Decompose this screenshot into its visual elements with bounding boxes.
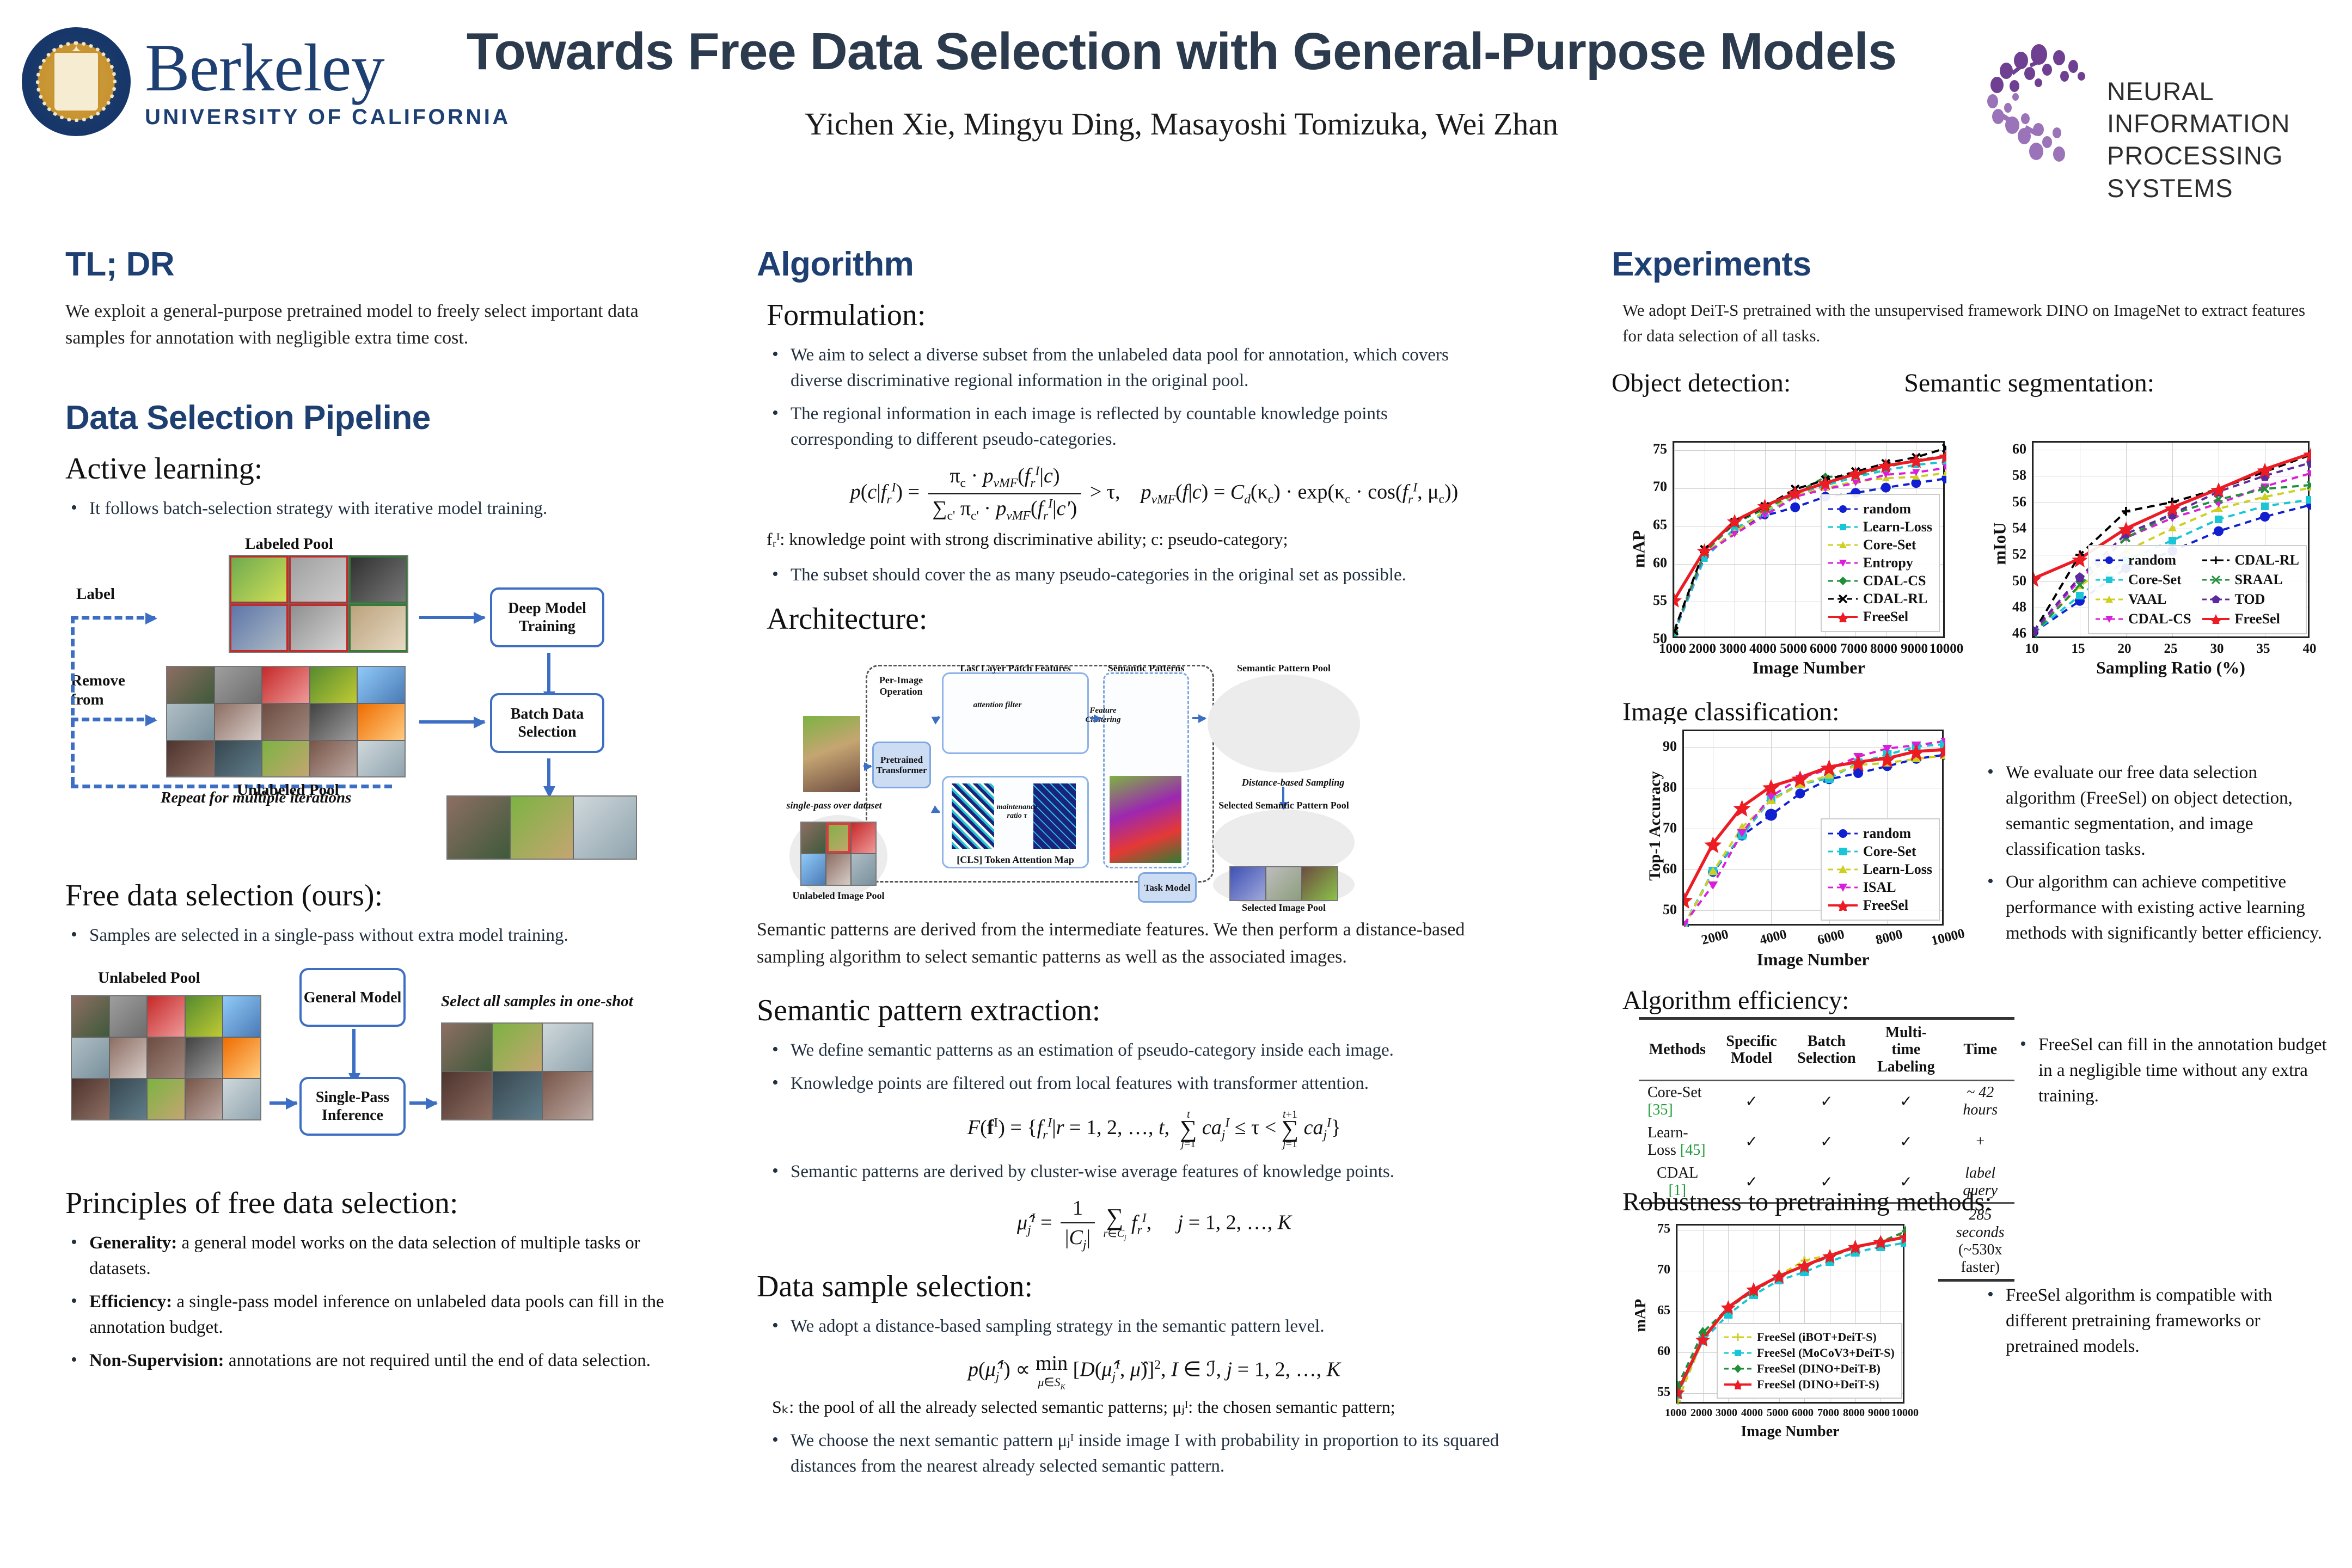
image-classification-heading: Image classification: — [1622, 697, 1840, 727]
legend-item: random — [1828, 825, 1932, 842]
principle-term: Efficiency: — [89, 1292, 172, 1312]
title-block: Towards Free Data Selection with General… — [446, 24, 1916, 142]
table-row: Core-Set [35] ✓ ✓ ✓ ~ 42 hours — [1639, 1081, 2014, 1122]
distance-based-sampling-label: Distance-based Sampling — [1225, 777, 1361, 788]
free-unlabeled-pool-images — [71, 995, 261, 1120]
cell-time: + — [1946, 1122, 2014, 1162]
legend-item: FreeSel (MoCoV3+DeiT-S) — [1724, 1346, 1895, 1360]
unlabeled-pool-images — [166, 666, 406, 777]
th-methods: Methods — [1639, 1019, 1716, 1081]
cell-method: Core-Set [35] — [1639, 1081, 1716, 1122]
th-batch-selection: Batch Selection — [1787, 1019, 1866, 1081]
select-all-label: Select all samples in one-shot — [441, 993, 633, 1010]
list-item: Our algorithm can achieve competitive pe… — [1982, 869, 2330, 946]
object-detection-heading: Object detection: — [1612, 368, 1791, 398]
training-to-selection-arrow — [547, 653, 550, 694]
experiments-heading: Experiments — [1612, 245, 2330, 284]
legend-item: FreeSel (DINO+DeiT-B) — [1724, 1362, 1895, 1376]
legend-item: FreeSel (iBOT+DeiT-S) — [1724, 1330, 1895, 1344]
formulation-last-bullet: The subset should cover the as many pseu… — [767, 562, 1491, 588]
formula-sampling-probability: p(μ̂jI) ∝ min μ̂∈SK [D(μ̂jI, μ̂)]2, I ∈ … — [757, 1351, 1552, 1391]
pipeline-heading: Data Selection Pipeline — [65, 399, 708, 437]
spe-heading: Semantic pattern extraction: — [757, 993, 1552, 1028]
neurips-line2: PROCESSING SYSTEMS — [2107, 139, 2330, 204]
list-item: Generality: a general model works on the… — [65, 1230, 670, 1282]
right-column: Experiments We adopt DeiT-S pretrained w… — [1612, 245, 2330, 398]
cell-multi: ✓ — [1866, 1122, 1946, 1162]
berkeley-logo: ✦ Berkeley UNIVERSITY OF CALIFORNIA — [22, 27, 511, 136]
neurips-wordmark: NEURAL INFORMATION PROCESSING SYSTEMS — [2107, 75, 2330, 204]
formulation-note: fᵣᴵ: knowledge point with strong discrim… — [767, 529, 1552, 549]
legend-item: Core-Set — [1828, 537, 1932, 553]
cls-token-attention-map-label: [CLS] Token Attention Map — [942, 854, 1089, 866]
legend-item: CDAL-CS — [2096, 611, 2191, 627]
legend-item: random — [2096, 552, 2191, 568]
list-item: Non-Supervision: annotations are not req… — [65, 1348, 670, 1374]
poster-title: Towards Free Data Selection with General… — [446, 24, 1916, 79]
list-item: We define semantic patterns as an estima… — [767, 1038, 1491, 1063]
legend-item: Core-Set — [1828, 843, 1932, 860]
per-image-operation-label: Per-Image Operation — [871, 675, 931, 697]
poster-authors: Yichen Xie, Mingyu Ding, Masayoshi Tomiz… — [446, 106, 1916, 142]
cell-specific: ✓ — [1716, 1122, 1787, 1162]
selected-images — [446, 795, 637, 860]
single-pass-inference-box: Single-Pass Inference — [299, 1077, 406, 1136]
list-item: Efficiency: a single-pass model inferenc… — [65, 1289, 670, 1340]
neurips-line1: NEURAL INFORMATION — [2107, 75, 2330, 139]
legend-item: CDAL-RL — [1828, 591, 1932, 607]
cell-batch: ✓ — [1787, 1081, 1866, 1122]
principles-heading: Principles of free data selection: — [65, 1186, 708, 1221]
rb-xlabel: Image Number — [1676, 1423, 1904, 1441]
pretrained-transformer-box: Pretrained Transformer — [872, 742, 931, 788]
list-item: We adopt a distance-based sampling strat… — [767, 1314, 1491, 1339]
cell-multi: ✓ — [1866, 1081, 1946, 1122]
active-learning-bullets: It follows batch-selection strategy with… — [65, 496, 708, 522]
free-selection-heading: Free data selection (ours): — [65, 878, 708, 913]
active-learning-heading: Active learning: — [65, 451, 708, 486]
labeled-pool-label: Labeled Pool — [245, 535, 333, 553]
ss-legend: random CDAL-RL Core-Set SRAAL VAAL TOD C… — [2088, 545, 2307, 634]
unlabeled-pool-label: Unlabeled Pool — [237, 781, 339, 799]
efficiency-bullet-wrap: FreeSel can fill in the annotation budge… — [2014, 1029, 2330, 1117]
semantic-pattern-pool-label: Semantic Pattern Pool — [1208, 663, 1360, 674]
table-row: Learn-Loss [45] ✓ ✓ ✓ + — [1639, 1122, 2014, 1162]
architecture-caption: Semantic patterns are derived from the i… — [757, 916, 1519, 970]
last-layer-patch-features-label: Last Layer Patch Features — [942, 663, 1089, 674]
dss-heading: Data sample selection: — [757, 1269, 1552, 1304]
maintenance-ratio-label: maintenance ratio τ — [995, 803, 1039, 820]
ss-plot-area: random CDAL-RL Core-Set SRAAL VAAL TOD C… — [2032, 441, 2310, 638]
efficiency-heading: Algorithm efficiency: — [1622, 985, 1849, 1015]
task-model-box: Task Model — [1138, 872, 1197, 903]
label-arrow — [71, 616, 155, 620]
chart-object-detection: mAP — [1628, 436, 1955, 681]
rb-plot-area: FreeSel (iBOT+DeiT-S) FreeSel (MoCoV3+De… — [1676, 1224, 1904, 1404]
berkeley-seal-icon: ✦ — [22, 27, 131, 136]
list-item: We aim to select a diverse subset from t… — [767, 342, 1491, 394]
free-selection-bullets: Samples are selected in a single-pass wi… — [65, 923, 708, 948]
poster-header: ✦ Berkeley UNIVERSITY OF CALIFORNIA Towa… — [0, 0, 2352, 207]
principle-term: Generality: — [89, 1233, 177, 1253]
attention-heatmap-b — [1033, 783, 1076, 849]
chart-image-classification: Top-1 Accuracy — [1628, 724, 1976, 975]
classification-bullets: We evaluate our free data selection algo… — [1982, 757, 2330, 954]
selected-image-thumbs — [1229, 866, 1338, 901]
formula-knowledge-points: F(fI) = {frI|r = 1, 2, …, t, t ∑ j=1 caj… — [757, 1108, 1552, 1150]
tldr-text: We exploit a general-purpose pretrained … — [65, 298, 653, 352]
tldr-heading: TL; DR — [65, 245, 708, 284]
selected-image-pool-label: Selected Image Pool — [1213, 902, 1355, 914]
general-to-inference-arrow — [352, 1029, 356, 1075]
legend-item: TOD — [2202, 591, 2299, 608]
list-item: Semantic patterns are derived by cluster… — [767, 1159, 1491, 1185]
list-item: Samples are selected in a single-pass wi… — [65, 923, 708, 948]
principle-text: a single-pass model inference on unlabel… — [89, 1292, 664, 1337]
to-selection-arrow — [419, 720, 485, 724]
algorithm-heading: Algorithm — [757, 245, 1552, 284]
robustness-bullet-wrap: FreeSel algorithm is compatible with dif… — [1982, 1279, 2330, 1367]
feedback-loop-vertical — [71, 616, 75, 785]
patterns-to-pool-arrow — [1192, 717, 1205, 719]
legend-item: Core-Set — [2096, 572, 2191, 588]
list-item: We choose the next semantic pattern μⱼᴵ … — [767, 1428, 1502, 1479]
list-item: It follows batch-selection strategy with… — [65, 496, 708, 522]
th-specific-model: Specific Model — [1716, 1019, 1787, 1081]
feedback-loop-horizontal — [71, 785, 392, 788]
dss-note: Sₖ: the pool of all the already selected… — [772, 1396, 1552, 1417]
attention-filter-label: attention filter — [965, 701, 1030, 710]
architecture-heading: Architecture: — [767, 602, 1552, 636]
single-pass-over-dataset-label: single-pass over dataset — [785, 800, 883, 811]
dss-last-bullet: We choose the next semantic pattern μⱼᴵ … — [767, 1428, 1502, 1479]
ss-xlabel: Sampling Ratio (%) — [2032, 658, 2310, 678]
chart-semantic-segmentation: mIoU — [1987, 436, 2325, 681]
list-item: FreeSel algorithm is compatible with dif… — [1982, 1283, 2330, 1359]
inference-to-output-arrow — [409, 1101, 437, 1105]
list-item: The regional information in each image i… — [767, 401, 1491, 452]
transformer-to-features-arrow — [934, 716, 940, 720]
patch-features-panel — [942, 672, 1089, 754]
th-multi-time-labeling: Multi-time Labeling — [1866, 1019, 1946, 1081]
od-plot-area: random Learn-Loss Core-Set Entropy CDAL-… — [1673, 441, 1945, 638]
cell-time: ~ 42 hours — [1946, 1081, 2014, 1122]
legend-item: ISAL — [1828, 879, 1932, 896]
ours-time-line2: (~530x faster) — [1955, 1241, 2006, 1276]
cell-specific: ✓ — [1716, 1081, 1787, 1122]
ic-plot-area: random Core-Set Learn-Loss ISAL FreeSel — [1682, 730, 1944, 926]
cell-batch: ✓ — [1787, 1122, 1866, 1162]
remove-arrow — [71, 718, 155, 721]
pool-to-inference-arrow — [269, 1101, 297, 1105]
general-model-box: General Model — [299, 968, 406, 1027]
ic-legend: random Core-Set Learn-Loss ISAL FreeSel — [1821, 818, 1940, 921]
seal-star-icon: ✦ — [69, 44, 84, 62]
formula-cluster-mean: μ̂jI = 1|Cj| ∑ r∈Cj frI, j = 1, 2, …, K — [757, 1196, 1552, 1253]
remove-from-label: Remove from — [71, 671, 152, 709]
left-column: TL; DR We exploit a general-purpose pret… — [65, 245, 708, 1381]
architecture-figure: Per-Image Operation Pretrained Transform… — [757, 646, 1530, 908]
segmented-image — [1110, 776, 1181, 863]
neurips-swirl-icon — [1982, 42, 2107, 168]
unlabeled-image-pool-label: Unlabeled Image Pool — [787, 890, 890, 902]
to-training-arrow — [419, 616, 485, 619]
spe-last-bullet: Semantic patterns are derived by cluster… — [767, 1159, 1491, 1185]
features-to-patterns-arrow — [1090, 717, 1101, 719]
legend-item: random — [1828, 501, 1932, 517]
formulation-bullets: We aim to select a diverse subset from t… — [767, 342, 1491, 452]
od-xlabel: Image Number — [1673, 658, 1945, 678]
legend-item: Learn-Loss — [1828, 861, 1932, 878]
transformer-to-attention-arrow — [934, 808, 940, 813]
semantic-pattern-pool-ellipse — [1208, 675, 1360, 773]
unlabeled-pool-thumbs — [800, 822, 877, 886]
formulation-heading: Formulation: — [767, 298, 1552, 333]
selected-semantic-pattern-pool-label: Selected Semantic Pattern Pool — [1208, 800, 1360, 811]
ic-xlabel: Image Number — [1682, 950, 1944, 970]
robustness-heading: Robustness to pretraining methods: — [1622, 1187, 1992, 1217]
legend-item: CDAL-CS — [1828, 573, 1932, 589]
legend-item: SRAAL — [2202, 572, 2299, 588]
list-item: The subset should cover the as many pseu… — [767, 562, 1491, 588]
neurips-logo: NEURAL INFORMATION PROCESSING SYSTEMS — [1982, 42, 2330, 168]
dss-first-bullet: We adopt a distance-based sampling strat… — [767, 1314, 1491, 1339]
semantic-patterns-label: Semantic Patterns — [1100, 663, 1192, 674]
principles-list: Generality: a general model works on the… — [65, 1230, 670, 1373]
free-selection-diagram: Unlabeled Pool General Model Single-Pass… — [65, 963, 664, 1153]
legend-item: FreeSel (DINO+DeiT-S) — [1724, 1377, 1895, 1392]
semantic-segmentation-heading: Semantic segmentation: — [1904, 368, 2154, 398]
legend-item: CDAL-RL — [2202, 552, 2299, 568]
chart-robustness: mAP — [1633, 1220, 1938, 1448]
list-item: We evaluate our free data selection algo… — [1982, 760, 2330, 862]
formula-posterior: p(c|frI) = πc · pvMF(frI|c) ∑c' πc' · pv… — [757, 464, 1552, 523]
active-learning-diagram: Labeled Pool Label Remove from Repeat fo… — [65, 535, 664, 807]
principle-text: annotations are not required until the e… — [224, 1351, 651, 1370]
deep-model-training-box: Deep Model Training — [490, 587, 604, 647]
seal-book-icon — [53, 51, 100, 112]
legend-item: FreeSel — [1828, 609, 1932, 625]
input-image — [803, 716, 860, 792]
selection-to-output-arrow — [547, 758, 550, 788]
principle-term: Non-Supervision: — [89, 1351, 224, 1370]
experiments-intro: We adopt DeiT-S pretrained with the unsu… — [1622, 298, 2308, 348]
image-to-transformer-arrow — [863, 765, 871, 767]
spe-bullets: We define semantic patterns as an estima… — [767, 1038, 1491, 1097]
cell-method: Learn-Loss [45] — [1639, 1122, 1716, 1162]
rb-legend: FreeSel (iBOT+DeiT-S) FreeSel (MoCoV3+De… — [1717, 1323, 1902, 1399]
labeled-pool-images — [229, 555, 408, 653]
od-legend: random Learn-Loss Core-Set Entropy CDAL-… — [1821, 494, 1940, 632]
th-time: Time — [1946, 1019, 2014, 1081]
list-item: Knowledge points are filtered out from l… — [767, 1071, 1491, 1097]
legend-item: VAAL — [2096, 591, 2191, 608]
batch-data-selection-box: Batch Data Selection — [490, 693, 604, 753]
feature-clustering-label: Feature Clustering — [1081, 706, 1125, 725]
middle-column: Algorithm Formulation: We aim to select … — [757, 245, 1552, 1487]
legend-item: Learn-Loss — [1828, 519, 1932, 535]
attention-heatmap-a — [952, 783, 994, 849]
free-selected-images — [441, 1022, 593, 1120]
free-unlabeled-pool-label: Unlabeled Pool — [98, 969, 200, 987]
legend-item: FreeSel — [1828, 897, 1932, 914]
label-arrow-label: Label — [76, 585, 115, 603]
list-item: FreeSel can fill in the annotation budge… — [2014, 1032, 2330, 1109]
legend-item: FreeSel — [2202, 611, 2299, 627]
legend-item: Entropy — [1828, 555, 1932, 571]
